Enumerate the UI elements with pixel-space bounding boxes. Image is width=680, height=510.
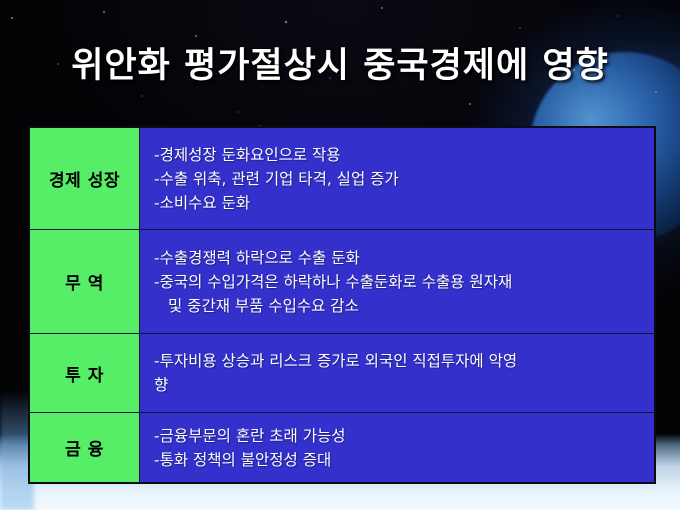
list-item: -통화 정책의 불안정성 증대	[154, 448, 646, 472]
table-row: 경제 성장 -경제성장 둔화요인으로 작용 -수출 위축, 관련 기업 타격, …	[30, 128, 654, 230]
description-cell-growth: -경제성장 둔화요인으로 작용 -수출 위축, 관련 기업 타격, 실업 증가 …	[140, 128, 654, 229]
list-item: -중국의 수입가격은 하락하나 수출둔화로 수출용 원자재	[154, 270, 646, 294]
slide-title: 위안화 평가절상시 중국경제에 영향	[0, 44, 680, 88]
category-label-trade: 무 역	[30, 230, 140, 333]
table-row: 무 역 -수출경쟁력 하락으로 수출 둔화 -중국의 수입가격은 하락하나 수출…	[30, 230, 654, 334]
table-row: 금 융 -금융부문의 혼란 초래 가능성 -통화 정책의 불안정성 증대	[30, 413, 654, 482]
category-label-investment: 투 자	[30, 334, 140, 412]
list-item: -수출경쟁력 하락으로 수출 둔화	[154, 246, 646, 270]
list-item: -수출 위축, 관련 기업 타격, 실업 증가	[154, 167, 646, 191]
list-item: -투자비용 상승과 리스크 증가로 외국인 직접투자에 악영	[154, 349, 646, 373]
presentation-slide: 위안화 평가절상시 중국경제에 영향 경제 성장 -경제성장 둔화요인으로 작용…	[0, 0, 680, 510]
description-cell-trade: -수출경쟁력 하락으로 수출 둔화 -중국의 수입가격은 하락하나 수출둔화로 …	[140, 230, 654, 333]
table-row: 투 자 -투자비용 상승과 리스크 증가로 외국인 직접투자에 악영 향	[30, 334, 654, 413]
list-item: -경제성장 둔화요인으로 작용	[154, 143, 646, 167]
list-item-continuation: 향	[154, 373, 646, 397]
impact-summary-table: 경제 성장 -경제성장 둔화요인으로 작용 -수출 위축, 관련 기업 타격, …	[28, 126, 656, 484]
category-label-finance: 금 융	[30, 413, 140, 482]
list-item: -소비수요 둔화	[154, 191, 646, 215]
list-item: -금융부문의 혼란 초래 가능성	[154, 424, 646, 448]
category-label-growth: 경제 성장	[30, 128, 140, 229]
description-cell-investment: -투자비용 상승과 리스크 증가로 외국인 직접투자에 악영 향	[140, 334, 654, 412]
list-item-continuation: 및 중간재 부품 수입수요 감소	[154, 294, 646, 318]
description-cell-finance: -금융부문의 혼란 초래 가능성 -통화 정책의 불안정성 증대	[140, 413, 654, 482]
